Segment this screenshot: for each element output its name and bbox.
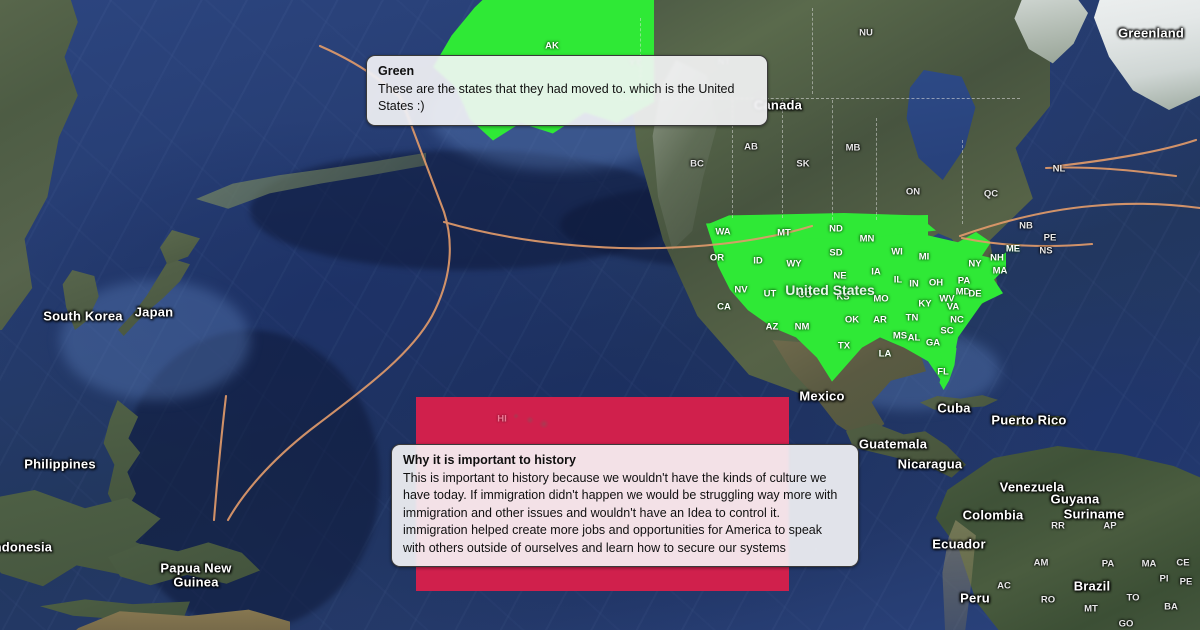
callout-history-body: This is important to history because we …	[403, 470, 847, 558]
label-brazil-ap: AP	[1103, 521, 1116, 532]
label-state-ga: GA	[926, 338, 940, 349]
label-state-ma: MA	[993, 266, 1008, 277]
label-country-peru: Peru	[960, 591, 990, 606]
label-state-oh: OH	[929, 278, 943, 289]
label-brazil-rr: RR	[1051, 521, 1065, 532]
label-country-brazil: Brazil	[1074, 579, 1111, 594]
label-brazil-ro: RO	[1041, 595, 1055, 606]
callout-green-body: These are the states that they had moved…	[378, 81, 756, 116]
label-united-states: United States	[785, 282, 874, 298]
label-country-philippines: Philippines	[24, 457, 96, 472]
label-state-fl: FL	[937, 367, 949, 378]
label-brazil-pa: PA	[1102, 559, 1115, 570]
label-state-va: VA	[947, 302, 960, 313]
label-state-in: IN	[909, 279, 919, 290]
label-country-ecuador: Ecuador	[932, 537, 985, 552]
border-dashed	[782, 100, 783, 218]
label-country-papua-new-guinea: Papua New Guinea	[160, 562, 231, 591]
label-state-sd: SD	[829, 248, 842, 259]
label-state-id: ID	[753, 256, 763, 267]
label-country-guatemala: Guatemala	[859, 437, 927, 452]
label-state-pa: PA	[958, 276, 971, 287]
label-brazil-pi: PI	[1160, 574, 1169, 585]
label-canada-bc: BC	[690, 159, 704, 170]
label-state-mo: MO	[873, 294, 888, 305]
label-state-tn: TN	[906, 313, 919, 324]
map-canvas[interactable]: GreenlandCanadaMexicoGuatemalaNicaraguaC…	[0, 0, 1200, 630]
label-state-ok: OK	[845, 315, 859, 326]
label-country-indonesia: Indonesia	[0, 540, 52, 555]
label-state-ca: CA	[717, 302, 731, 313]
label-brazil-mt: MT	[1084, 604, 1098, 615]
border-dashed	[962, 140, 963, 224]
label-state-nd: ND	[829, 224, 843, 235]
label-country-guyana: Guyana	[1051, 492, 1100, 507]
label-state-ar: AR	[873, 315, 887, 326]
callout-history-title: Why it is important to history	[403, 452, 847, 469]
label-state-ut: UT	[764, 289, 777, 300]
label-state-sc: SC	[940, 326, 953, 337]
label-canada-pe: PE	[1044, 233, 1057, 244]
label-country-colombia: Colombia	[963, 508, 1024, 523]
label-canada-mb: MB	[846, 143, 861, 154]
label-country-greenland: Greenland	[1118, 26, 1184, 41]
label-brazil-pe: PE	[1180, 577, 1193, 588]
label-country-south-korea: South Korea	[43, 309, 122, 324]
label-country-cuba: Cuba	[937, 401, 970, 416]
label-state-hi: HI	[497, 414, 507, 425]
label-canada-qc: QC	[984, 189, 998, 200]
label-state-tx: TX	[838, 341, 850, 352]
label-state-nc: NC	[950, 315, 964, 326]
label-canada-ns: NS	[1039, 246, 1052, 257]
label-brazil-to: TO	[1126, 593, 1139, 604]
label-brazil-ba: BA	[1164, 602, 1178, 613]
label-state-me: ME	[1006, 244, 1020, 255]
label-state-ms: MS	[893, 331, 907, 342]
label-country-mexico: Mexico	[799, 389, 844, 404]
label-state-az: AZ	[766, 322, 779, 333]
label-brazil-ac: AC	[997, 581, 1011, 592]
label-brazil-go: GO	[1119, 619, 1134, 630]
label-canada-ab: AB	[744, 142, 758, 153]
label-country-puerto-rico: Puerto Rico	[991, 413, 1066, 428]
label-state-or: OR	[710, 253, 724, 264]
label-state-nh: NH	[990, 253, 1004, 264]
label-state-wa: WA	[715, 227, 730, 238]
label-state-mt: MT	[777, 228, 791, 239]
label-canada-on: ON	[906, 187, 920, 198]
label-country-japan: Japan	[135, 305, 174, 320]
label-canada-nb: NB	[1019, 221, 1033, 232]
label-brazil-ma: MA	[1142, 559, 1157, 570]
callout-green-title: Green	[378, 63, 756, 80]
label-state-wi: WI	[891, 247, 903, 258]
callout-history[interactable]: Why it is important to history This is i…	[391, 444, 859, 567]
label-brazil-am: AM	[1034, 558, 1049, 569]
label-canada-sk: SK	[796, 159, 809, 170]
label-state-wy: WY	[786, 259, 801, 270]
label-state-nv: NV	[734, 285, 747, 296]
label-state-mn: MN	[860, 234, 875, 245]
label-state-nm: NM	[795, 322, 810, 333]
label-state-mi: MI	[919, 252, 930, 263]
label-state-al: AL	[908, 333, 921, 344]
label-canada-nu: NU	[859, 28, 873, 39]
label-state-ia: IA	[871, 267, 881, 278]
label-state-de: DE	[968, 289, 981, 300]
label-state-ne: NE	[833, 271, 846, 282]
label-state-la: LA	[879, 349, 892, 360]
border-dashed	[832, 100, 833, 220]
label-state-ak: AK	[545, 41, 559, 52]
label-state-ny: NY	[968, 259, 981, 270]
label-canada-nl: NL	[1053, 164, 1066, 175]
label-state-il: IL	[894, 275, 902, 286]
label-state-ky: KY	[918, 299, 931, 310]
label-country-suriname: Suriname	[1064, 507, 1125, 522]
callout-green[interactable]: Green These are the states that they had…	[366, 55, 768, 126]
label-country-nicaragua: Nicaragua	[898, 457, 963, 472]
border-dashed	[876, 118, 877, 220]
label-brazil-ce: CE	[1176, 558, 1189, 569]
border-dashed	[812, 8, 813, 94]
